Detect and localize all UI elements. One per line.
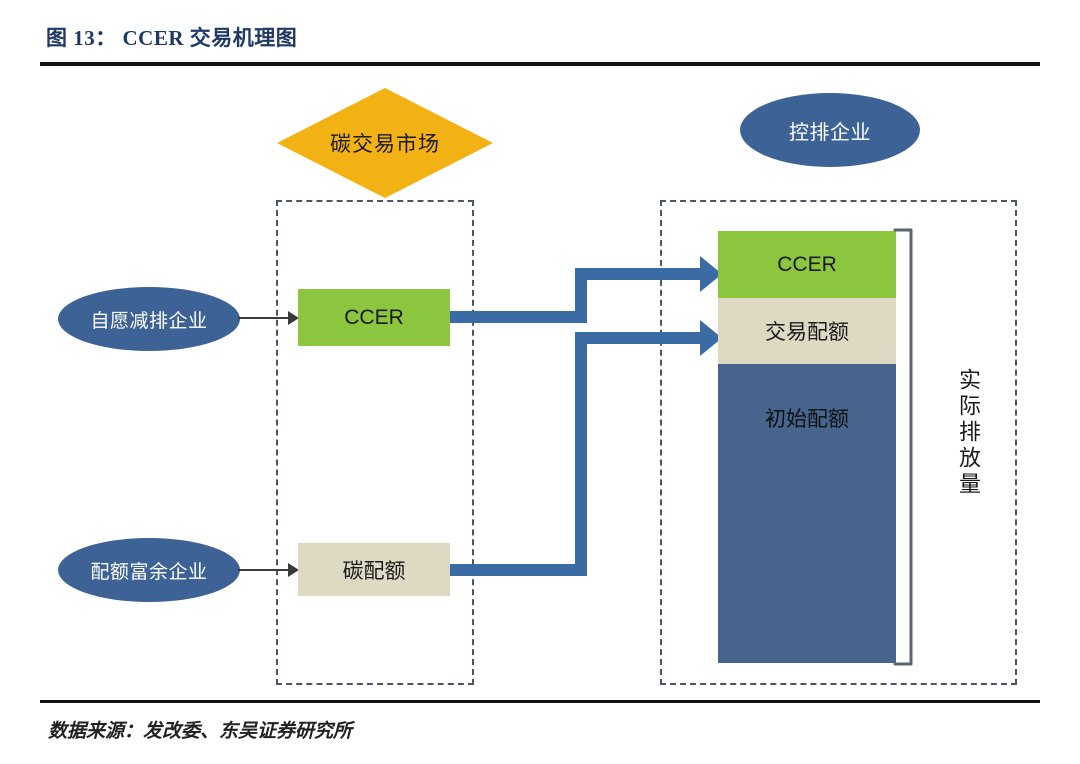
emission-stack-initial-quota-segment: 初始配额 [718, 364, 896, 663]
carbon-market-label: 碳交易市场 [277, 88, 493, 198]
voluntary-connector-line [238, 317, 290, 319]
footer-divider [40, 700, 1040, 703]
surplus-connector-line [238, 569, 290, 571]
emission-stack-traded-quota-segment: 交易配额 [718, 298, 896, 364]
emission-stack-initial-quota-label: 初始配额 [765, 403, 849, 433]
actual-emission-brace-icon [893, 228, 919, 666]
actual-emission-label: 实际排放量 [952, 368, 982, 498]
header-divider [40, 62, 1040, 66]
figure-page: 图 13： CCER 交易机理图 碳交易市场 控排企业 自愿减排企业 配额富余企… [0, 0, 1080, 764]
surplus-quota-enterprise-node: 配额富余企业 [58, 538, 240, 602]
page-title: 图 13： CCER 交易机理图 [46, 22, 297, 52]
market-boundary-box [276, 200, 474, 685]
market-carbon-quota-label: 碳配额 [343, 555, 406, 585]
surplus-quota-enterprise-label: 配额富余企业 [90, 557, 207, 584]
voluntary-reduction-enterprise-label: 自愿减排企业 [90, 306, 207, 333]
market-carbon-quota-box: 碳配额 [298, 543, 450, 596]
quota-flow-segment-horizontal-1 [450, 564, 587, 576]
ccer-flow-segment-horizontal-2 [575, 268, 706, 280]
controlled-enterprise-label: 控排企业 [789, 116, 871, 145]
emission-stack-traded-quota-label: 交易配额 [765, 316, 849, 346]
voluntary-reduction-enterprise-node: 自愿减排企业 [58, 287, 240, 351]
ccer-flow-segment-horizontal-1 [450, 311, 587, 323]
quota-flow-segment-horizontal-2 [575, 332, 706, 344]
emission-stack-ccer-segment: CCER [718, 231, 896, 298]
source-note: 数据来源：发改委、东吴证券研究所 [48, 716, 352, 743]
carbon-market-diamond: 碳交易市场 [277, 88, 493, 198]
emission-stack-ccer-label: CCER [777, 253, 837, 277]
controlled-enterprise-node: 控排企业 [740, 93, 920, 167]
market-ccer-box: CCER [298, 289, 450, 346]
quota-flow-segment-vertical [575, 332, 587, 576]
market-ccer-label: CCER [344, 306, 404, 330]
